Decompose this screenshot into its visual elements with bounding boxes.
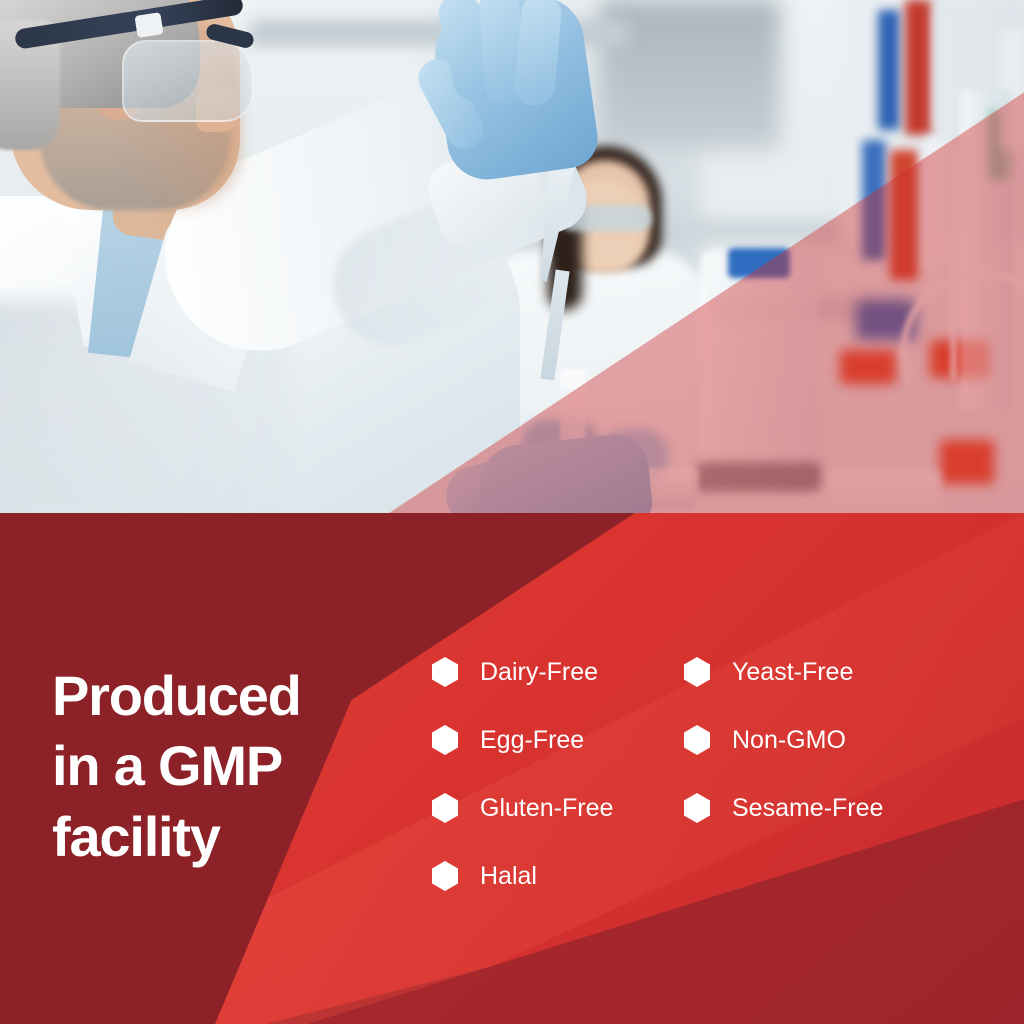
reagent-box-red — [905, 0, 931, 135]
headline-line-2: in a GMP — [52, 731, 422, 802]
hexagon-bullet-icon — [432, 861, 458, 891]
reagent-box-white-2 — [924, 138, 946, 268]
reagent-bottle-cap — [728, 248, 790, 278]
page-title: Produced in a GMP facility — [52, 661, 422, 873]
list-item: Yeast-Free — [684, 638, 984, 706]
headline-line-3: facility — [52, 802, 422, 873]
list-item: Gluten-Free — [432, 774, 684, 842]
reagent-box-white — [936, 6, 956, 126]
list-item: Non-GMO — [684, 706, 984, 774]
feature-label: Sesame-Free — [732, 796, 883, 821]
feature-label: Yeast-Free — [732, 660, 853, 685]
list-item: Dairy-Free — [432, 638, 684, 706]
list-item: Halal — [432, 842, 684, 910]
feature-label: Gluten-Free — [480, 796, 613, 821]
hexagon-bullet-icon — [432, 657, 458, 687]
feature-column-right: Yeast-Free Non-GMO Sesame-Free — [684, 638, 984, 910]
reagent-box-red-2 — [890, 150, 918, 280]
reagent-box-blue-2 — [862, 140, 886, 260]
list-item: Sesame-Free — [684, 774, 984, 842]
reagent-box-blue — [878, 10, 900, 130]
lab-photo — [0, 0, 1024, 513]
reagent-bottle — [700, 250, 818, 490]
list-item: Egg-Free — [432, 706, 684, 774]
bottle-cap-red-1 — [840, 350, 896, 384]
hexagon-bullet-icon — [432, 725, 458, 755]
feature-label: Non-GMO — [732, 728, 846, 753]
hexagon-bullet-icon — [684, 657, 710, 687]
bottle-cap-red-3 — [940, 440, 994, 484]
panel-content: Produced in a GMP facility Dairy-Free Eg… — [0, 513, 1024, 1024]
feature-label: Dairy-Free — [480, 660, 598, 685]
headline-line-1: Produced — [52, 661, 422, 732]
feature-label: Halal — [480, 864, 537, 889]
hexagon-bullet-icon — [684, 793, 710, 823]
reagent-bottle-base — [696, 462, 822, 492]
safety-goggles-lens — [122, 40, 254, 122]
feature-column-left: Dairy-Free Egg-Free Gluten-Free Halal — [432, 638, 684, 910]
promotional-banner: Produced in a GMP facility Dairy-Free Eg… — [0, 0, 1024, 1024]
hexagon-bullet-icon — [684, 725, 710, 755]
hexagon-bullet-icon — [432, 793, 458, 823]
feature-label: Egg-Free — [480, 728, 584, 753]
safety-goggles-clip — [134, 12, 163, 38]
feature-checklist: Dairy-Free Egg-Free Gluten-Free Halal — [432, 638, 992, 910]
red-info-panel: Produced in a GMP facility Dairy-Free Eg… — [0, 513, 1024, 1024]
